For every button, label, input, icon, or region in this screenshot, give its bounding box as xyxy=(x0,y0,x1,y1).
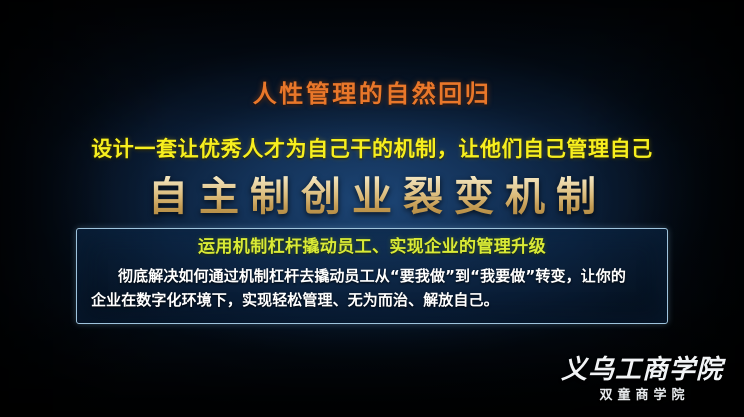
highlight-panel: 运用机制杠杆撬动员工、实现企业的管理升级 彻底解决如何通过机制杠杆去撬动员工从“… xyxy=(76,228,668,324)
kicker-text: 人性管理的自然回归 xyxy=(0,82,744,106)
logo-main-text: 义乌工商学院 xyxy=(552,356,732,385)
logo-sub-text: 双童商学院 xyxy=(552,389,732,403)
panel-body-line-2: 企业在数字化环境下，实现轻松管理、无为而治、解放自己。 xyxy=(89,288,655,312)
presentation-slide: 人性管理的自然回归 设计一套让优秀人才为自己干的机制，让他们自己管理自己 自主制… xyxy=(0,0,744,417)
slide-content: 人性管理的自然回归 设计一套让优秀人才为自己干的机制，让他们自己管理自己 自主制… xyxy=(0,0,744,417)
panel-headline: 运用机制杠杆撬动员工、实现企业的管理升级 xyxy=(89,236,655,258)
panel-body-line-1: 彻底解决如何通过机制杠杆去撬动员工从“要我做”到“我要做”转变，让你的 xyxy=(118,267,626,285)
page-title: 自主制创业裂变机制 xyxy=(0,176,744,219)
subtitle-text: 设计一套让优秀人才为自己干的机制，让他们自己管理自己 xyxy=(0,139,744,160)
panel-body: 彻底解决如何通过机制杠杆去撬动员工从“要我做”到“我要做”转变，让你的 企业在数… xyxy=(89,264,655,313)
institution-logo: 义乌工商学院 双童商学院 xyxy=(552,356,732,403)
